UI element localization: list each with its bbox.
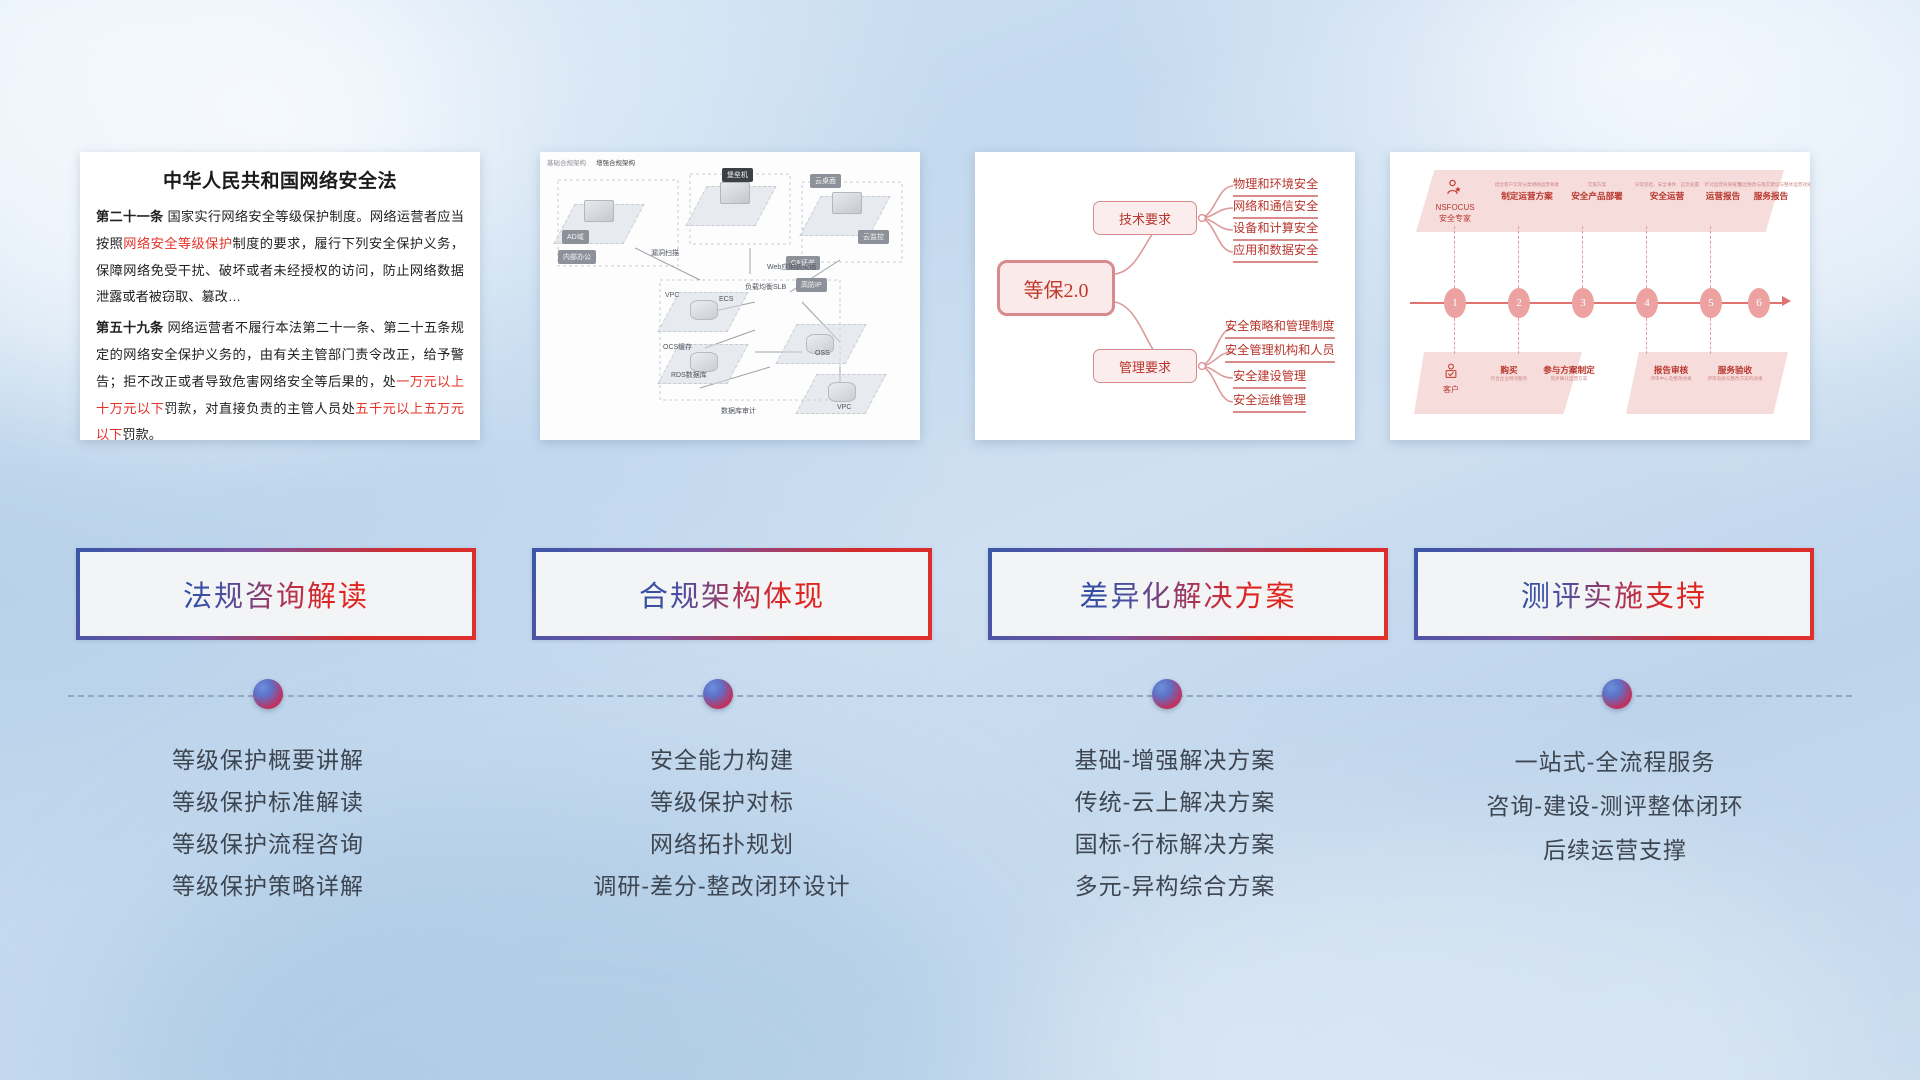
section-title-label: 差异化解决方案 bbox=[1079, 573, 1296, 615]
arch-node bbox=[720, 182, 750, 204]
list-item: 等级保护概要讲解 bbox=[58, 740, 478, 782]
timeline-stem bbox=[1582, 226, 1583, 288]
arch-label: AD域 bbox=[562, 230, 589, 244]
section-title-box-2[interactable]: 合规架构体现 bbox=[532, 548, 932, 640]
timeline-stem bbox=[1518, 318, 1519, 354]
arch-label: 高防IP bbox=[796, 278, 827, 292]
list-item: 等级保护对标 bbox=[512, 782, 932, 824]
mindmap-branch-management[interactable]: 管理要求 bbox=[1093, 349, 1197, 383]
timeline-expert-persona: NSFOCUS 安全专家 bbox=[1420, 178, 1490, 225]
law-title: 中华人民共和国网络安全法 bbox=[96, 166, 464, 193]
timeline-step-label: 参与方案制定 bbox=[1536, 364, 1602, 376]
arch-node bbox=[828, 382, 856, 402]
arch-label: VPC bbox=[832, 402, 856, 413]
timeline-stem bbox=[1454, 226, 1455, 288]
timeline-stem bbox=[1710, 226, 1711, 288]
timeline-step-sub: 结合客户实际分类明确运营要素 bbox=[1494, 182, 1560, 188]
timeline-stem bbox=[1710, 318, 1711, 354]
law-run-highlight: 网络安全等级保护 bbox=[123, 236, 232, 251]
mindmap-root-node[interactable]: 等保2.0 bbox=[997, 260, 1115, 316]
section-detail-list-3: 基础-增强解决方案 传统-云上解决方案 国标-行标解决方案 多元-异构综合方案 bbox=[965, 740, 1385, 907]
timeline-node[interactable]: 2 bbox=[1508, 288, 1530, 318]
rail-dot-1[interactable] bbox=[253, 679, 283, 709]
arch-label: 负载均衡SLB bbox=[740, 280, 791, 294]
timeline-bottom-step[interactable]: 购买 符合企业特点服务 bbox=[1476, 364, 1542, 384]
timeline-top-step[interactable]: 实施方案 安全产品部署 bbox=[1564, 182, 1630, 202]
law-paragraph: 第五十九条 网络运营者不履行本法第二十一条、第二十五条规定的网络安全保护义务的，… bbox=[96, 315, 464, 440]
mindmap-leaf[interactable]: 安全建设管理 bbox=[1233, 366, 1306, 389]
law-article-number: 第五十九条 bbox=[96, 320, 163, 335]
timeline-bottom-step[interactable]: 报告审核 评审中心及整改效果 bbox=[1638, 364, 1704, 384]
arch-label: 云监控 bbox=[858, 230, 889, 244]
list-item: 国标-行标解决方案 bbox=[965, 824, 1385, 866]
mindmap-leaf[interactable]: 应用和数据安全 bbox=[1233, 240, 1318, 263]
timeline-axis bbox=[1410, 302, 1786, 304]
timeline-step-sub: 符合企业特点服务 bbox=[1476, 376, 1542, 382]
timeline-node[interactable]: 4 bbox=[1636, 288, 1658, 318]
section-title-label: 合规架构体现 bbox=[639, 573, 825, 615]
section-title-row: 法规咨询解读 合规架构体现 差异化解决方案 测评实施支持 bbox=[0, 548, 1920, 644]
arch-label: 堡垒机 bbox=[722, 168, 753, 182]
timeline-node[interactable]: 3 bbox=[1572, 288, 1594, 318]
arch-label: VPC bbox=[660, 290, 684, 301]
timeline-top-step[interactable]: 结合客户实际分类明确运营要素 制定运营方案 bbox=[1494, 182, 1560, 202]
timeline-step-label: 安全产品部署 bbox=[1564, 190, 1630, 202]
timeline-rail bbox=[68, 695, 1852, 697]
law-paragraph: 第二十一条 国家实行网络安全等级保护制度。网络运营者应当按照网络安全等级保护制度… bbox=[96, 204, 464, 311]
timeline-stem bbox=[1646, 226, 1647, 288]
section-title-label: 测评实施支持 bbox=[1521, 573, 1707, 615]
list-item: 传统-云上解决方案 bbox=[965, 782, 1385, 824]
arch-label: OCS缓存 bbox=[658, 340, 697, 354]
preview-card-architecture[interactable]: 基础合规架构 增强合规架构 bbox=[540, 152, 920, 440]
law-document: 中华人民共和国网络安全法 第二十一条 国家实行网络安全等级保护制度。网络运营者应… bbox=[80, 152, 480, 440]
list-item: 等级保护标准解读 bbox=[58, 782, 478, 824]
list-item: 后续运营支撑 bbox=[1405, 828, 1825, 872]
section-title-label: 法规咨询解读 bbox=[183, 573, 369, 615]
mindmap-leaf[interactable]: 设备和计算安全 bbox=[1233, 218, 1318, 241]
timeline-expert-brand: NSFOCUS bbox=[1420, 203, 1490, 214]
arch-label: 漏洞扫描 bbox=[646, 246, 684, 260]
section-title-box-4[interactable]: 测评实施支持 bbox=[1414, 548, 1814, 640]
timeline-bottom-step[interactable]: 参与方案制定 同步确认运营方案 bbox=[1536, 364, 1602, 384]
arch-node bbox=[584, 200, 614, 222]
mindmap-leaf[interactable]: 网络和通信安全 bbox=[1233, 196, 1318, 219]
timeline-customer-role: 客户 bbox=[1416, 385, 1486, 396]
timeline-step-sub: 评审验收与整改方案的效果 bbox=[1702, 376, 1768, 382]
timeline-arrow-icon bbox=[1782, 296, 1791, 306]
timeline-stem bbox=[1646, 318, 1647, 354]
section-detail-list-1: 等级保护概要讲解 等级保护标准解读 等级保护流程咨询 等级保护策略详解 bbox=[58, 740, 478, 907]
timeline-step-label: 购买 bbox=[1476, 364, 1542, 376]
timeline-step-label: 服务报告 bbox=[1738, 190, 1804, 202]
list-item: 网络拓扑规划 bbox=[512, 824, 932, 866]
list-item: 多元-异构综合方案 bbox=[965, 866, 1385, 908]
arch-label: 云桌面 bbox=[810, 174, 841, 188]
section-title-box-1[interactable]: 法规咨询解读 bbox=[76, 548, 476, 640]
mindmap: 等保2.0 技术要求 管理要求 物理和环境安全 网络和通信安全 设备和计算安全 … bbox=[975, 152, 1355, 440]
preview-card-timeline[interactable]: NSFOCUS 安全专家 结合客户实际分类明确运营要素 制定运营方案 实施方案 … bbox=[1390, 152, 1810, 440]
list-item: 咨询-建设-测评整体闭环 bbox=[1405, 784, 1825, 828]
arch-label: OSS bbox=[810, 348, 835, 359]
mindmap-leaf[interactable]: 物理和环境安全 bbox=[1233, 174, 1318, 197]
timeline-stem bbox=[1454, 318, 1455, 354]
rail-dot-4[interactable] bbox=[1602, 679, 1632, 709]
timeline-step-sub: 输出整改与落实建议与整体运营效果 bbox=[1738, 182, 1804, 188]
list-item: 安全能力构建 bbox=[512, 740, 932, 782]
list-item: 等级保护策略详解 bbox=[58, 866, 478, 908]
timeline-node[interactable]: 1 bbox=[1444, 288, 1466, 318]
timeline-bottom-step[interactable]: 服务验收 评审验收与整改方案的效果 bbox=[1702, 364, 1768, 384]
person-star-icon bbox=[1445, 178, 1465, 198]
arch-label: Web应用防火墙 bbox=[762, 260, 821, 274]
architecture-diagram: 基础合规架构 增强合规架构 bbox=[540, 152, 920, 440]
person-check-icon bbox=[1442, 362, 1460, 380]
rail-dot-2[interactable] bbox=[703, 679, 733, 709]
timeline-step-sub: 实施方案 bbox=[1564, 182, 1630, 188]
arch-label: ECS bbox=[714, 294, 738, 305]
arch-label: 内部办公 bbox=[558, 250, 596, 264]
arch-node bbox=[832, 192, 862, 214]
mindmap-branch-technical[interactable]: 技术要求 bbox=[1093, 201, 1197, 235]
law-run: 罚款，对直接负责的主管人员处 bbox=[164, 401, 355, 416]
law-run: 罚款。 bbox=[122, 427, 162, 440]
law-article-number: 第二十一条 bbox=[96, 209, 163, 224]
timeline-step-label: 制定运营方案 bbox=[1494, 190, 1560, 202]
timeline-node[interactable]: 5 bbox=[1700, 288, 1722, 318]
timeline-step-label: 服务验收 bbox=[1702, 364, 1768, 376]
timeline-top-step[interactable]: 输出整改与落实建议与整体运营效果 服务报告 bbox=[1738, 182, 1804, 202]
arch-label: RDS数据库 bbox=[666, 368, 712, 382]
preview-card-mindmap[interactable]: 等保2.0 技术要求 管理要求 物理和环境安全 网络和通信安全 设备和计算安全 … bbox=[975, 152, 1355, 440]
preview-card-row: 中华人民共和国网络安全法 第二十一条 国家实行网络安全等级保护制度。网络运营者应… bbox=[0, 152, 1920, 442]
arch-label: 数据库审计 bbox=[716, 404, 761, 418]
timeline-stem bbox=[1518, 226, 1519, 288]
section-title-box-3[interactable]: 差异化解决方案 bbox=[988, 548, 1388, 640]
mindmap-leaf[interactable]: 安全管理机构和人员 bbox=[1225, 340, 1335, 363]
timeline-expert-role: 安全专家 bbox=[1420, 214, 1490, 225]
mindmap-leaf[interactable]: 安全运维管理 bbox=[1233, 390, 1306, 413]
list-item: 一站式-全流程服务 bbox=[1405, 740, 1825, 784]
mindmap-leaf[interactable]: 安全策略和管理制度 bbox=[1225, 316, 1335, 339]
section-detail-list-2: 安全能力构建 等级保护对标 网络拓扑规划 调研-差分-整改闭环设计 bbox=[512, 740, 932, 907]
rail-dot-3[interactable] bbox=[1152, 679, 1182, 709]
list-item: 基础-增强解决方案 bbox=[965, 740, 1385, 782]
timeline-step-label: 报告审核 bbox=[1638, 364, 1704, 376]
list-item: 等级保护流程咨询 bbox=[58, 824, 478, 866]
timeline-step-sub: 同步确认运营方案 bbox=[1536, 376, 1602, 382]
list-item: 调研-差分-整改闭环设计 bbox=[512, 866, 932, 908]
timeline-node[interactable]: 6 bbox=[1748, 288, 1770, 318]
timeline-step-sub: 评审中心及整改效果 bbox=[1638, 376, 1704, 382]
section-detail-list-4: 一站式-全流程服务 咨询-建设-测评整体闭环 后续运营支撑 bbox=[1405, 740, 1825, 872]
service-timeline: NSFOCUS 安全专家 结合客户实际分类明确运营要素 制定运营方案 实施方案 … bbox=[1390, 152, 1810, 440]
slide-stage: 中华人民共和国网络安全法 第二十一条 国家实行网络安全等级保护制度。网络运营者应… bbox=[0, 0, 1920, 1080]
preview-card-law[interactable]: 中华人民共和国网络安全法 第二十一条 国家实行网络安全等级保护制度。网络运营者应… bbox=[80, 152, 480, 440]
